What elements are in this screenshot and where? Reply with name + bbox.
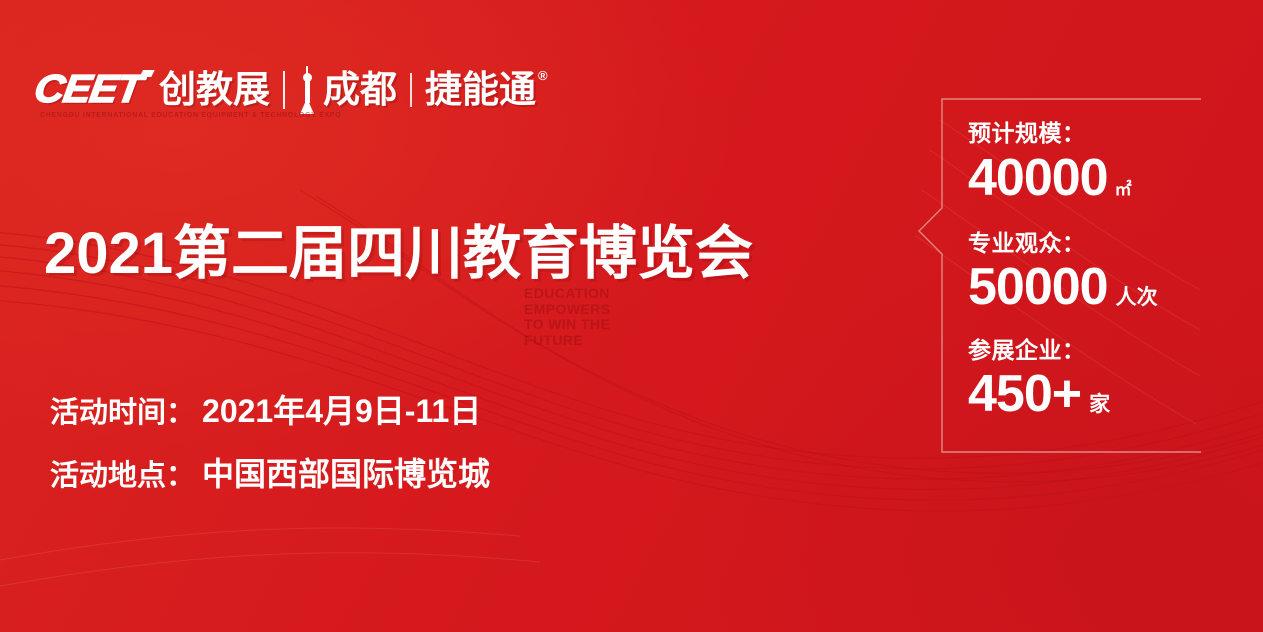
event-date-label: 活动时间： [50, 389, 195, 431]
logo-sponsor: 捷能通 [425, 70, 536, 110]
stat-label: 专业观众： [968, 228, 1203, 258]
stat-value-row: 50000 人次 [968, 258, 1203, 327]
background-watermark-text: EDUCATION EMPOWERS TO WIN THE FUTURE [524, 286, 684, 348]
stat-unit: 家 [1089, 376, 1110, 434]
stat-label: 预计规模： [968, 118, 1203, 148]
event-date-line: 活动时间： 2021年4月9日-11日 [50, 386, 481, 432]
brand-logo-cn: 创教展 [159, 70, 270, 110]
logo-divider [410, 73, 412, 107]
event-date-value: 2021年4月9日-11日 [202, 386, 481, 432]
watermark-line: FUTURE [524, 333, 684, 349]
logo-divider [283, 71, 285, 109]
stats-panel: 预计规模： 40000 ㎡ 专业观众： 50000 人次 参展企业： 450+ … [968, 118, 1203, 442]
event-venue-value: 中国西部国际博览城 [202, 449, 490, 495]
stat-unit: 人次 [1116, 269, 1158, 327]
logo-accent-tick [140, 70, 155, 77]
stat-number: 40000 [968, 148, 1108, 208]
stat-value-row: 450+ 家 [968, 365, 1203, 434]
brand-logo-ceet-text: CEET [31, 68, 144, 111]
event-venue-label: 活动地点： [50, 452, 195, 494]
watermark-line: TO WIN THE [524, 317, 684, 333]
tv-tower-icon [300, 66, 314, 114]
watermark-line: EDUCATION [524, 286, 684, 302]
event-venue-line: 活动地点： 中国西部国际博览城 [50, 449, 490, 495]
stat-unit: ㎡ [1115, 160, 1132, 220]
logo-bar: CEET 创教展 成都 捷能通 ® [38, 62, 548, 118]
logo-tagline: CHENGDU INTERNATIONAL EDUCATION EQUIPMEN… [40, 112, 341, 119]
stat-value-row: 40000 ㎡ [968, 148, 1203, 220]
stat-number: 450+ [968, 365, 1081, 423]
stat-label: 参展企业： [968, 335, 1203, 365]
stat-professional-visitors: 专业观众： 50000 人次 [968, 228, 1203, 327]
stat-number: 50000 [968, 258, 1108, 316]
logo-city: 成都 [323, 70, 397, 110]
event-promo-banner: EDUCATION EMPOWERS TO WIN THE FUTURE CEE… [0, 0, 1263, 632]
watermark-line: EMPOWERS [524, 302, 684, 318]
tower-shaft [305, 81, 310, 103]
registered-trademark-icon: ® [538, 68, 548, 83]
stat-exhibiting-companies: 参展企业： 450+ 家 [968, 335, 1203, 434]
page-title: 2021第二届四川教育博览会 [44, 222, 753, 286]
stat-expected-area: 预计规模： 40000 ㎡ [968, 118, 1203, 220]
brand-logo-ceet: CEET [31, 69, 150, 111]
